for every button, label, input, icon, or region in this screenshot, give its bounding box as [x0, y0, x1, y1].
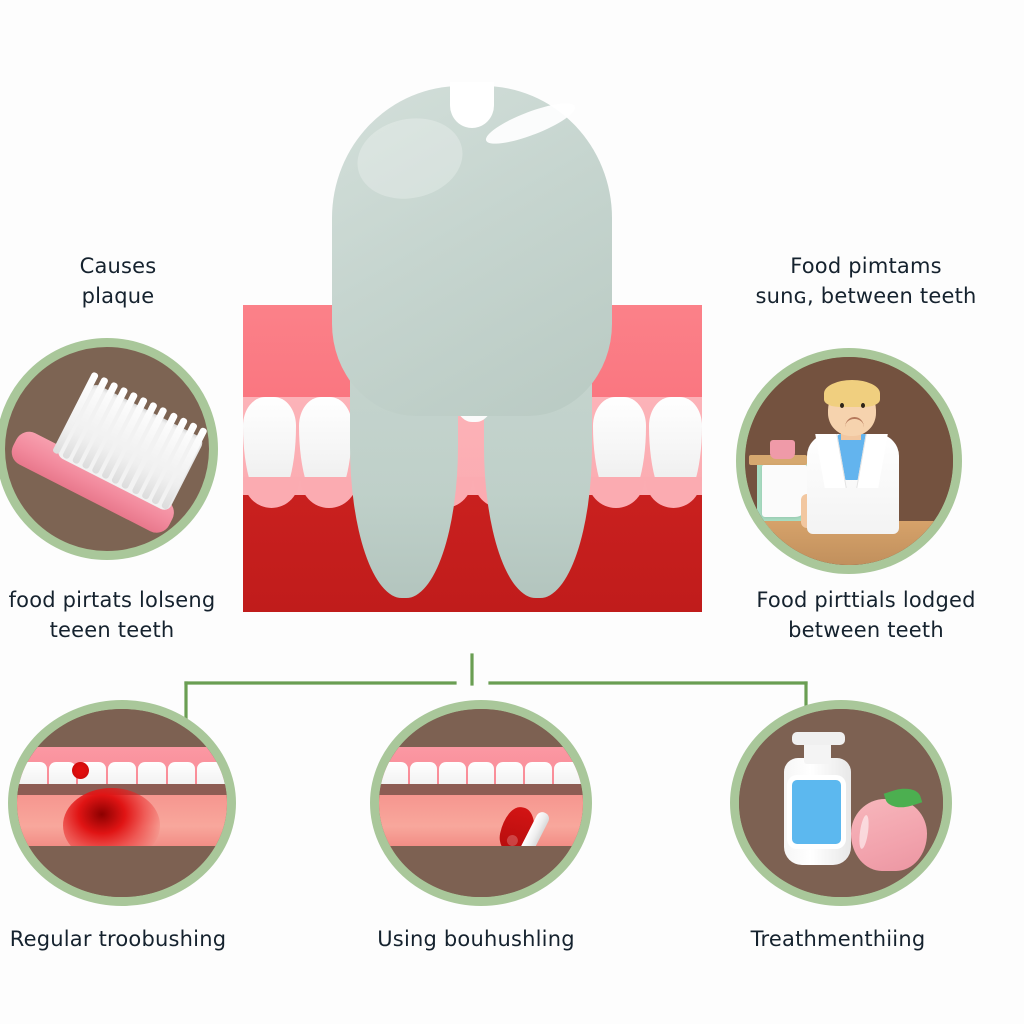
molar-tooth — [332, 86, 612, 598]
toothbrush-scene — [5, 347, 209, 551]
infographic-canvas: Causes plaque Food pimtams sunɢ, between… — [0, 0, 1024, 1024]
wave-segment — [645, 477, 702, 508]
bubble-dentist[interactable] — [736, 348, 962, 574]
mouth-interior-bottom — [379, 846, 583, 897]
eye-left — [840, 403, 844, 408]
label-top-right: Food pimtams sunɢ, between teeth — [726, 252, 1006, 312]
cusp-groove — [450, 82, 495, 128]
flossing-scene — [379, 709, 583, 897]
crown-highlight — [482, 96, 579, 152]
label-bottom-left: Regular troobushing — [0, 925, 242, 955]
label-mid-right: Food pirttials lodged between teeth — [722, 586, 1010, 646]
blood-spot — [72, 762, 89, 779]
mouth-interior-bottom — [17, 846, 227, 897]
rinse-cup — [770, 440, 795, 459]
pump-head — [792, 732, 845, 745]
bubble-flossing[interactable] — [370, 700, 592, 906]
products-scene — [739, 709, 943, 897]
apple — [851, 799, 926, 870]
bottle-label — [792, 780, 841, 844]
mouth-frown — [845, 417, 864, 427]
lower-gum — [379, 795, 583, 851]
tooth-gum-diagram — [240, 86, 704, 618]
label-mid-left: food pirtats lolseng teeen teeth — [0, 586, 228, 646]
crown-shade — [350, 109, 471, 209]
bleeding-gums-scene — [17, 709, 227, 897]
wave-segment — [243, 477, 300, 508]
dentist-scene — [745, 357, 953, 565]
label-top-left: Causes plaque — [18, 252, 218, 312]
label-bottom-right: Treathmenthiing — [710, 925, 966, 955]
bubble-oral-care-products[interactable] — [730, 700, 952, 906]
bubble-bleeding-gums[interactable] — [8, 700, 236, 906]
dentist-hair — [824, 380, 880, 407]
bubble-toothbrush[interactable] — [0, 338, 218, 560]
label-bottom-center: Using bouhushling — [352, 925, 600, 955]
tooth-crown — [332, 86, 612, 416]
